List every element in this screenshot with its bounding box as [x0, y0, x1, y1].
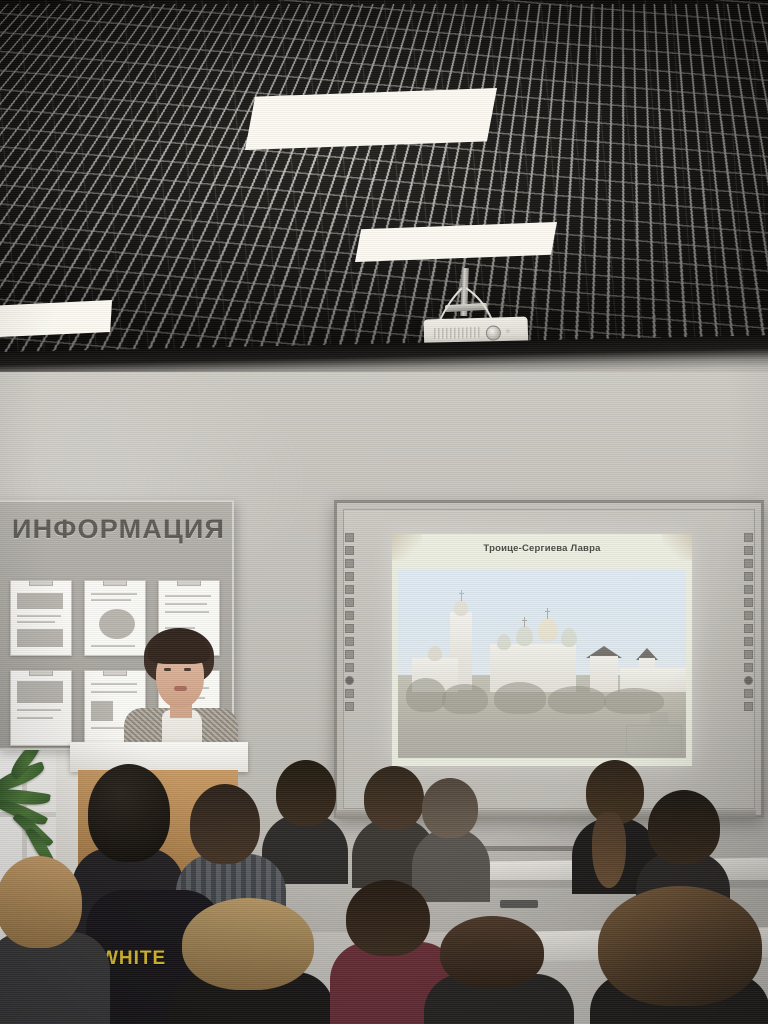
- whiteboard-tool-icon[interactable]: [345, 702, 354, 711]
- projector-lens: [486, 325, 501, 340]
- ceiling-light-center: [245, 88, 497, 150]
- whiteboard-tool-icon[interactable]: [744, 650, 753, 659]
- pocket-clip-icon: [29, 670, 53, 676]
- presenter-mouth: [174, 686, 187, 691]
- whiteboard-tool-icon[interactable]: [345, 546, 354, 555]
- person-head: [598, 886, 762, 1006]
- whiteboard-tool-icon[interactable]: [744, 676, 753, 685]
- person-head: [88, 764, 170, 862]
- desk-object: [500, 900, 538, 908]
- whiteboard-tool-icon[interactable]: [345, 598, 354, 607]
- whiteboard-tool-icon[interactable]: [744, 637, 753, 646]
- person-head: [0, 856, 82, 948]
- whiteboard-tool-icon[interactable]: [744, 559, 753, 568]
- person-head: [440, 916, 544, 988]
- presenter-eye: [184, 668, 191, 671]
- person-head: [182, 898, 314, 990]
- student-right-front: [424, 916, 574, 1024]
- whiteboard-tool-icon[interactable]: [744, 585, 753, 594]
- whiteboard-tool-icon[interactable]: [744, 572, 753, 581]
- whiteboard-tool-icon[interactable]: [744, 663, 753, 672]
- projection-washout: [398, 570, 686, 758]
- presenter-eye: [164, 668, 171, 671]
- student-far-right: [590, 886, 768, 1024]
- whiteboard-tool-icon[interactable]: [345, 637, 354, 646]
- whiteboard-tool-icon[interactable]: [345, 663, 354, 672]
- pocket-clip-icon: [177, 580, 201, 586]
- projector-cables: [428, 286, 500, 322]
- ceiling-grid: [0, 0, 768, 390]
- person-head: [422, 778, 478, 838]
- whiteboard-tool-icon[interactable]: [345, 533, 354, 542]
- whiteboard-tool-icon[interactable]: [345, 650, 354, 659]
- pocket-clip-icon: [29, 580, 53, 586]
- whiteboard-tool-icon[interactable]: [345, 572, 354, 581]
- ceiling-shading: [0, 0, 768, 390]
- student-blond-left: [0, 856, 110, 1024]
- whiteboard-tool-icon[interactable]: [345, 676, 354, 685]
- whiteboard-tool-icon[interactable]: [744, 624, 753, 633]
- whiteboard-tool-icon[interactable]: [345, 611, 354, 620]
- projector-led-icon: [506, 329, 510, 333]
- document-pocket[interactable]: [10, 580, 72, 656]
- whiteboard-tool-icon[interactable]: [744, 611, 753, 620]
- slide-photo-monastery: [398, 570, 686, 758]
- lecture-hall-photo: ИНФОРМАЦИЯ: [0, 0, 768, 1024]
- whiteboard-tool-icon[interactable]: [744, 689, 753, 698]
- presenter-fringe: [148, 638, 210, 664]
- whiteboard-toolbar-left[interactable]: [344, 529, 355, 763]
- whiteboard-tool-icon[interactable]: [744, 598, 753, 607]
- info-board-title: ИНФОРМАЦИЯ: [12, 514, 225, 545]
- person-head: [346, 880, 430, 956]
- person-head: [648, 790, 720, 864]
- whiteboard-tool-icon[interactable]: [744, 533, 753, 542]
- presenter-woman: [118, 628, 244, 758]
- projector-vent: [434, 327, 480, 339]
- person-ponytail: [592, 812, 626, 888]
- person-head: [190, 784, 260, 864]
- document-pocket[interactable]: [10, 670, 72, 746]
- whiteboard-tool-icon[interactable]: [744, 702, 753, 711]
- whiteboard-tool-icon[interactable]: [345, 624, 354, 633]
- whiteboard-tool-icon[interactable]: [345, 585, 354, 594]
- whiteboard-toolbar-right[interactable]: [743, 529, 754, 763]
- whiteboard-tool-icon[interactable]: [744, 546, 753, 555]
- pocket-clip-icon: [103, 580, 127, 586]
- slide-title: Троице-Сергиева Лавра: [392, 543, 692, 554]
- whiteboard-tool-icon[interactable]: [345, 689, 354, 698]
- whiteboard-tool-icon[interactable]: [345, 559, 354, 568]
- student-front-blond: [168, 898, 334, 1024]
- projected-slide: Троице-Сергиева Лавра: [392, 534, 692, 766]
